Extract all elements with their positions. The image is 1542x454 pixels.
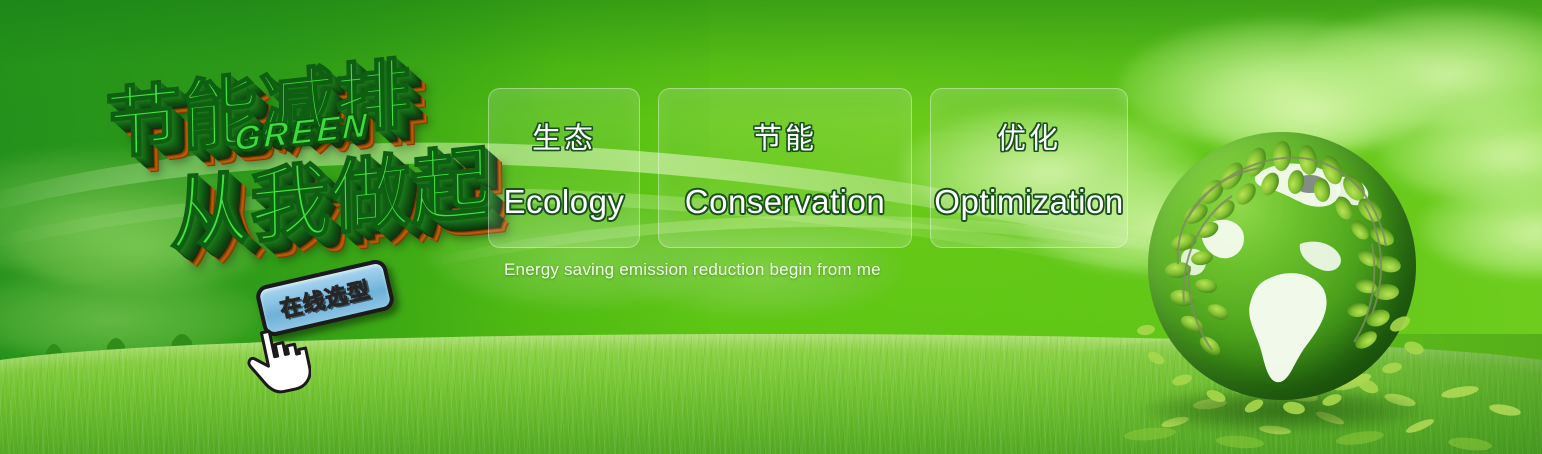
globe-sphere: [1148, 132, 1416, 400]
feature-card-cn-label: 生态: [532, 115, 596, 157]
banner-subtitle: Energy saving emission reduction begin f…: [504, 260, 881, 280]
feature-card-optimization[interactable]: 优化 Optimization: [930, 88, 1128, 248]
feature-card-ecology[interactable]: 生态 Ecology: [488, 88, 640, 248]
feature-card-en-label: Ecology: [504, 183, 625, 221]
leafy-earth-globe-icon: [1128, 118, 1436, 426]
feature-card-cn-label: 优化: [997, 115, 1061, 157]
feature-card-conservation[interactable]: 节能 Conservation: [658, 88, 912, 248]
headline-block: 节能减排 GREEN 从我做起: [85, 16, 507, 287]
feature-card-group: 生态 Ecology 节能 Conservation 优化 Optimizati…: [488, 88, 1128, 248]
feature-card-cn-label: 节能: [753, 115, 817, 157]
cta-button-label: 在线选型: [277, 272, 374, 324]
green-energy-banner: 节能减排 GREEN 从我做起 在线选型 生态 Ecology 节能 Conse…: [0, 0, 1542, 454]
globe-continents: [1148, 132, 1416, 400]
feature-card-en-label: Conservation: [685, 183, 885, 221]
feature-card-en-label: Optimization: [934, 183, 1123, 221]
